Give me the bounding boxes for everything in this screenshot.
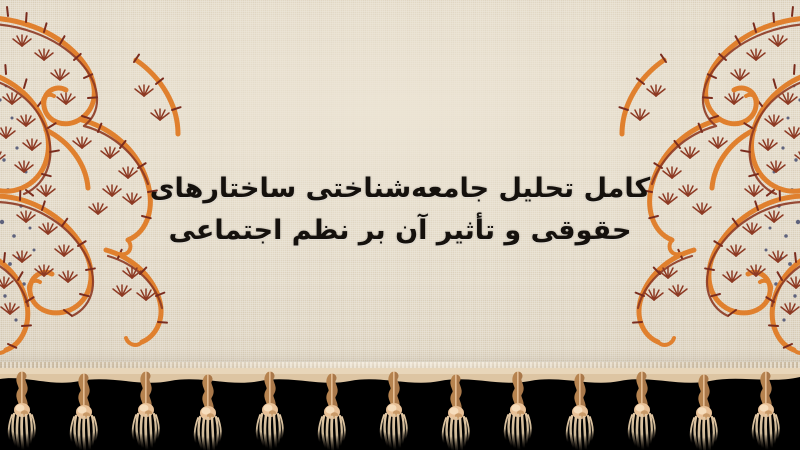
- textile-title-card: کامل تحلیل جامعه‌شناختی ساختارهای حقوقی …: [0, 0, 800, 450]
- tassel-fringe: [0, 368, 800, 450]
- title-block: کامل تحلیل جامعه‌شناختی ساختارهای حقوقی …: [0, 168, 800, 252]
- title-line-2: حقوقی و تأثیر آن بر نظم اجتماعی: [0, 210, 800, 252]
- title-line-1: کامل تحلیل جامعه‌شناختی ساختارهای: [0, 168, 800, 210]
